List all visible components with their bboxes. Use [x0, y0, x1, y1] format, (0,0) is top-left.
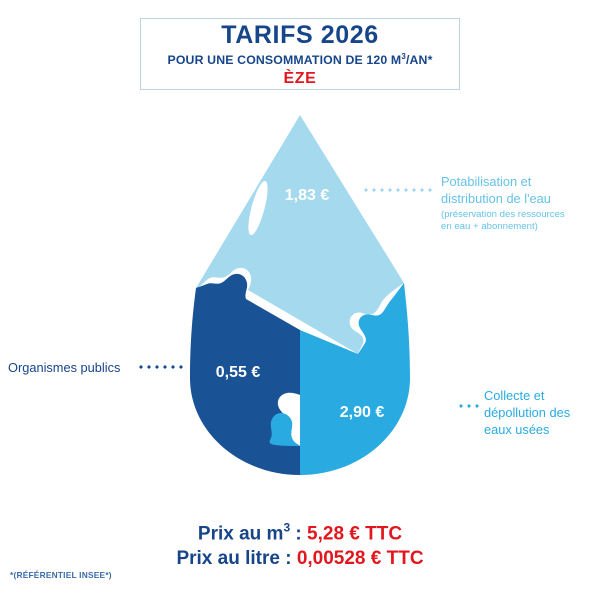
legend-organismes-title: Organismes publics: [8, 360, 133, 377]
droplet-puzzle-chart: 1,83 € 0,55 € 2,90 €: [0, 0, 600, 600]
legend-potabilisation: Potabilisation et distribution de l'eau …: [441, 174, 599, 234]
legend-collecte-line1: Collecte et: [484, 388, 544, 403]
legend-potabilisation-note: (préservation des ressources en eau + ab…: [441, 209, 599, 234]
price-liter-label: Prix au litre :: [176, 548, 296, 569]
price-m3-separator: :: [290, 523, 307, 544]
segment-value-organismes-publics: 0,55 €: [216, 364, 261, 381]
segment-value-potabilisation: 1,83 €: [285, 187, 330, 204]
legend-potabilisation-line2: distribution de l'eau: [441, 191, 551, 206]
droplet-segment-organismes-publics[interactable]: [190, 274, 300, 475]
subtitle-text-after: /AN*: [406, 53, 433, 67]
price-m3-value: 5,28 € TTC: [307, 523, 402, 544]
page-title: TARIFS 2026: [221, 22, 379, 48]
legend-potabilisation-note-line1: (préservation des ressources: [441, 209, 565, 220]
price-m3-label: Prix au m: [198, 523, 284, 544]
footnote: *(RÉFÉRENTIEL INSEE*): [10, 570, 112, 580]
droplet-segment-potabilisation[interactable]: [196, 115, 404, 354]
legend-potabilisation-line1: Potabilisation et: [441, 174, 531, 189]
legend-collecte-line3: eaux usées: [484, 422, 549, 437]
price-per-liter: Prix au litre : 0,00528 € TTC: [0, 546, 600, 571]
page-subtitle: POUR UNE CONSOMMATION DE 120 M3/AN*: [167, 52, 432, 67]
droplet-svg: 1,83 € 0,55 € 2,90 €: [0, 0, 600, 600]
legend-collecte-line2: dépollution des: [484, 405, 570, 420]
title-box: TARIFS 2026 POUR UNE CONSOMMATION DE 120…: [140, 18, 460, 90]
price-liter-value: 0,00528 € TTC: [297, 548, 424, 569]
legend-collecte-title: Collecte et dépollution des eaux usées: [484, 388, 600, 439]
legend-organismes-publics: Organismes publics: [8, 360, 133, 377]
connector-dots-potabilisation: [362, 188, 432, 192]
droplet-segment-collecte-depollution[interactable]: [270, 283, 410, 475]
subtitle-text-before: POUR UNE CONSOMMATION DE 120 M: [167, 53, 401, 67]
segment-value-collecte-depollution: 2,90 €: [340, 404, 385, 421]
legend-potabilisation-title: Potabilisation et distribution de l'eau: [441, 174, 599, 208]
legend-collecte-depollution: Collecte et dépollution des eaux usées: [484, 388, 600, 439]
legend-potabilisation-note-line2: en eau + abonnement): [441, 221, 538, 232]
droplet-highlight: [244, 179, 271, 236]
price-per-cubic-meter: Prix au m3 : 5,28 € TTC: [0, 521, 600, 546]
price-summary: Prix au m3 : 5,28 € TTC Prix au litre : …: [0, 521, 600, 571]
connector-dots-collecte: [457, 404, 481, 408]
city-name: ÈZE: [284, 70, 317, 88]
connector-dots-organismes: [137, 365, 185, 369]
